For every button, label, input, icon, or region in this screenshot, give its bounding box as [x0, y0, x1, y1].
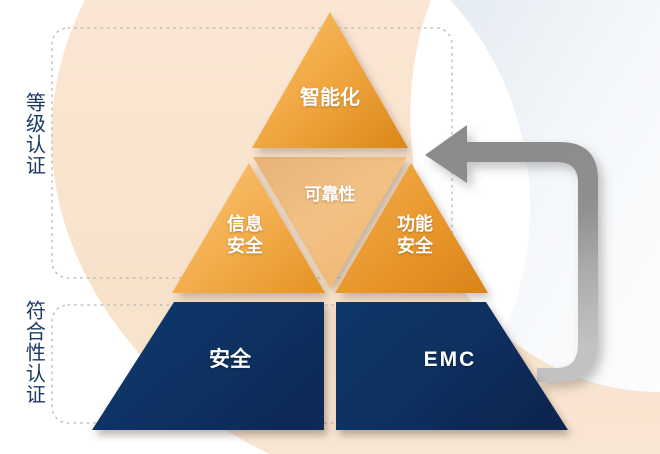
side-label-level-certification: 等级认证	[22, 92, 44, 176]
pyramid-layer	[0, 0, 660, 454]
shape-intelligence[interactable]	[252, 12, 408, 148]
shape-label-intelligence: 智能化	[255, 86, 405, 110]
side-label-compliance-certification: 符合性认证	[22, 300, 44, 405]
shape-label-functional-safety: 功能 安全	[360, 214, 470, 258]
shape-label-information-security: 信息 安全	[190, 214, 300, 258]
shape-label-reliability: 可靠性	[265, 185, 395, 206]
diagram-canvas: 智能化 可靠性 信息 安全 功能 安全 安全 EMC 等级认证 符合性认证	[0, 0, 660, 454]
shape-label-safety: 安全	[150, 347, 310, 373]
shape-label-emc: EMC	[370, 347, 530, 373]
